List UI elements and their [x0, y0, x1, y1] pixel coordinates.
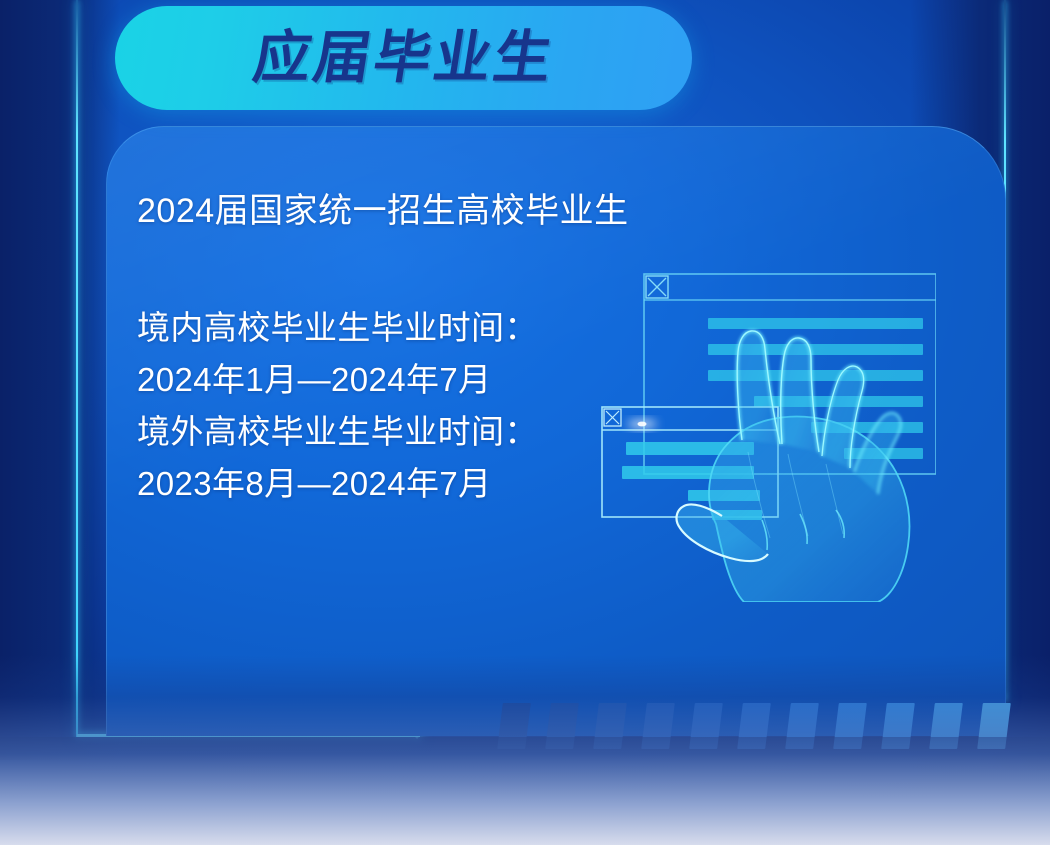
detail-line: 2023年8月—2024年7月 — [137, 458, 538, 510]
decorative-bar — [977, 703, 1011, 749]
decorative-bar — [641, 703, 675, 749]
background-left-vignette — [0, 0, 120, 760]
decorative-bar — [785, 703, 819, 749]
title-badge: 应届毕业生 — [115, 6, 692, 110]
poster-stage: 2024届国家统一招生高校毕业生 境内高校毕业生毕业时间： 2024年1月—20… — [0, 0, 1050, 845]
decorative-bar — [881, 703, 915, 749]
page-headline: 2024届国家统一招生高校毕业生 — [137, 183, 629, 232]
decorative-bar — [737, 703, 771, 749]
title-badge-label: 应届毕业生 — [249, 30, 558, 87]
decorative-bar — [497, 703, 531, 749]
decorative-bar — [545, 703, 579, 749]
detail-line: 2024年1月—2024年7月 — [137, 354, 538, 406]
neon-line-left — [76, 0, 78, 737]
detail-line-list: 境内高校毕业生毕业时间： 2024年1月—2024年7月 境外高校毕业生毕业时间… — [137, 302, 538, 510]
hand-screen-illustration — [596, 252, 936, 602]
decorative-bar — [833, 703, 867, 749]
decorative-bar — [593, 703, 627, 749]
decorative-bar-row — [500, 703, 1050, 755]
detail-line: 境外高校毕业生毕业时间： — [137, 406, 538, 458]
decorative-bar — [929, 703, 963, 749]
detail-line: 境内高校毕业生毕业时间： — [137, 302, 538, 354]
decorative-bar — [689, 703, 723, 749]
